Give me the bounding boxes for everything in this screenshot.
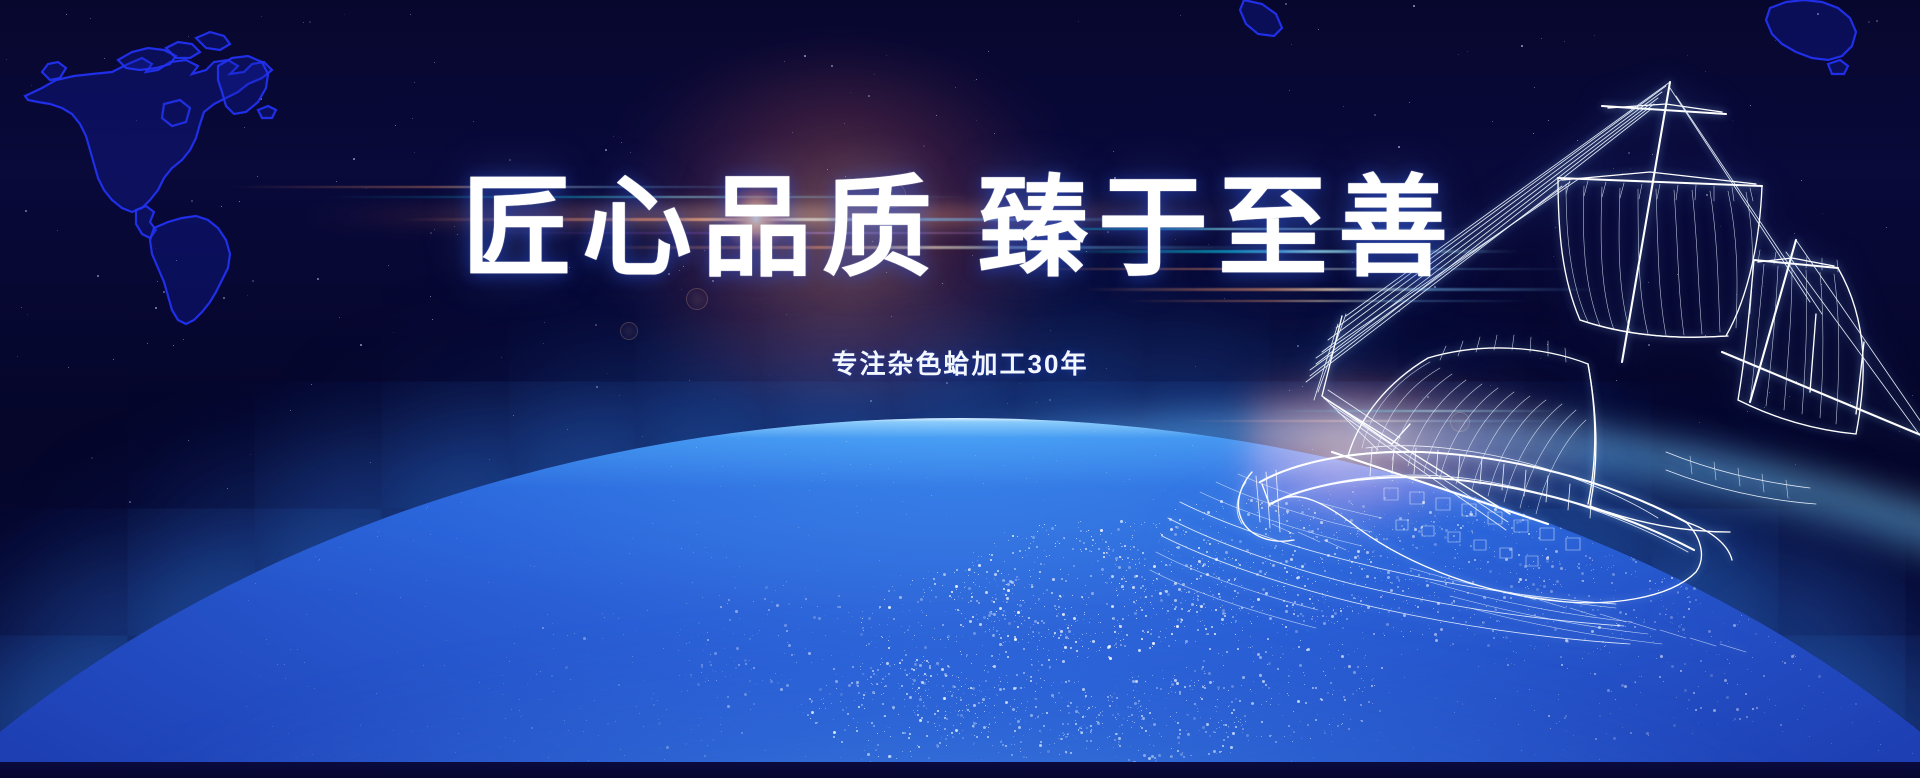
earth-haze: [0, 308, 1920, 778]
hero-banner: 匠心品质臻于至善 专注杂色蛤加工30年: [0, 0, 1920, 778]
bottom-band: [0, 762, 1920, 778]
